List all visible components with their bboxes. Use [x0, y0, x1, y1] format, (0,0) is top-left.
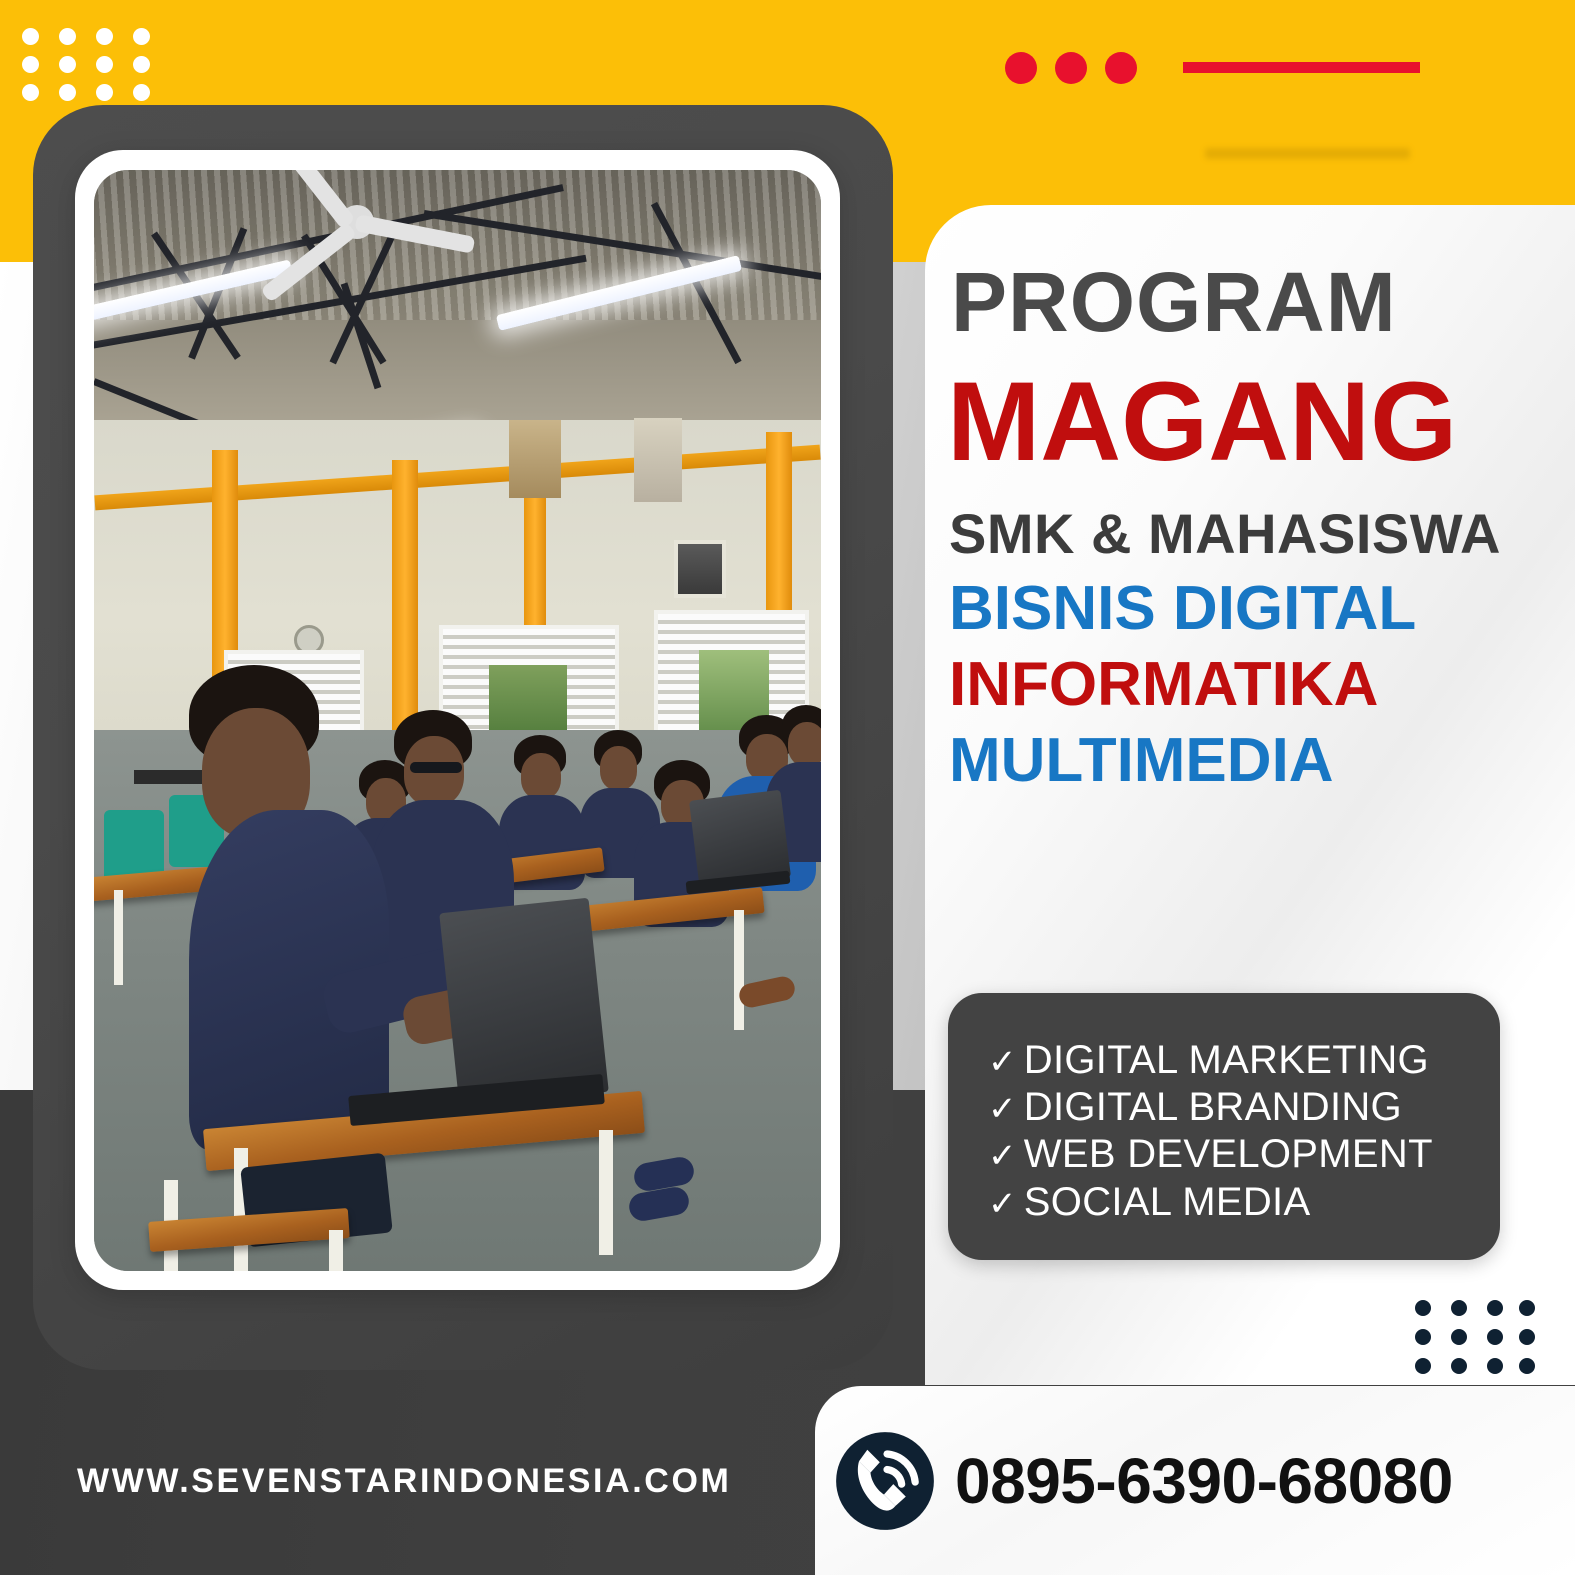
headline-block: PROGRAM MAGANG SMK & MAHASISWA BISNIS DI…: [925, 260, 1575, 792]
phone-call-icon: [833, 1429, 937, 1533]
list-item-label: WEB DEVELOPMENT: [1024, 1131, 1433, 1178]
phone-number[interactable]: 0895-6390-68080: [955, 1444, 1453, 1518]
classroom-photo: [94, 170, 821, 1271]
headline-magang: MAGANG: [947, 366, 1565, 478]
list-item-label: DIGITAL BRANDING: [1024, 1084, 1402, 1131]
headline-multimedia: MULTIMEDIA: [949, 730, 1565, 792]
list-item: ✓ DIGITAL BRANDING: [988, 1084, 1433, 1131]
dot-grid-icon-bottom-right: [1415, 1300, 1535, 1378]
headline-bisnis: BISNIS DIGITAL: [949, 578, 1565, 640]
check-icon: ✓: [988, 1184, 1017, 1224]
website-url[interactable]: WWW.SEVENSTARINDONESIA.COM: [77, 1462, 731, 1501]
check-icon: ✓: [988, 1089, 1017, 1129]
phone-panel: 0895-6390-68080: [815, 1386, 1575, 1575]
headline-program: PROGRAM: [951, 260, 1565, 344]
check-icon: ✓: [988, 1136, 1017, 1176]
red-bar-decoration: [1183, 62, 1420, 73]
list-item: ✓ DIGITAL MARKETING: [988, 1037, 1433, 1084]
shadow-bar-decoration: [1205, 148, 1410, 159]
dot-grid-icon-top-left: [22, 28, 132, 100]
list-item-label: SOCIAL MEDIA: [1024, 1179, 1311, 1226]
poster-root: PROGRAM MAGANG SMK & MAHASISWA BISNIS DI…: [0, 0, 1575, 1575]
headline-informatika: INFORMATIKA: [949, 654, 1565, 716]
headline-smk: SMK & MAHASISWA: [949, 506, 1565, 562]
services-list: ✓ DIGITAL MARKETING ✓ DIGITAL BRANDING ✓…: [988, 1037, 1433, 1226]
services-box: ✓ DIGITAL MARKETING ✓ DIGITAL BRANDING ✓…: [948, 993, 1500, 1260]
check-icon: ✓: [988, 1042, 1017, 1082]
list-item: ✓ WEB DEVELOPMENT: [988, 1131, 1433, 1178]
list-item: ✓ SOCIAL MEDIA: [988, 1179, 1433, 1226]
list-item-label: DIGITAL MARKETING: [1024, 1037, 1429, 1084]
